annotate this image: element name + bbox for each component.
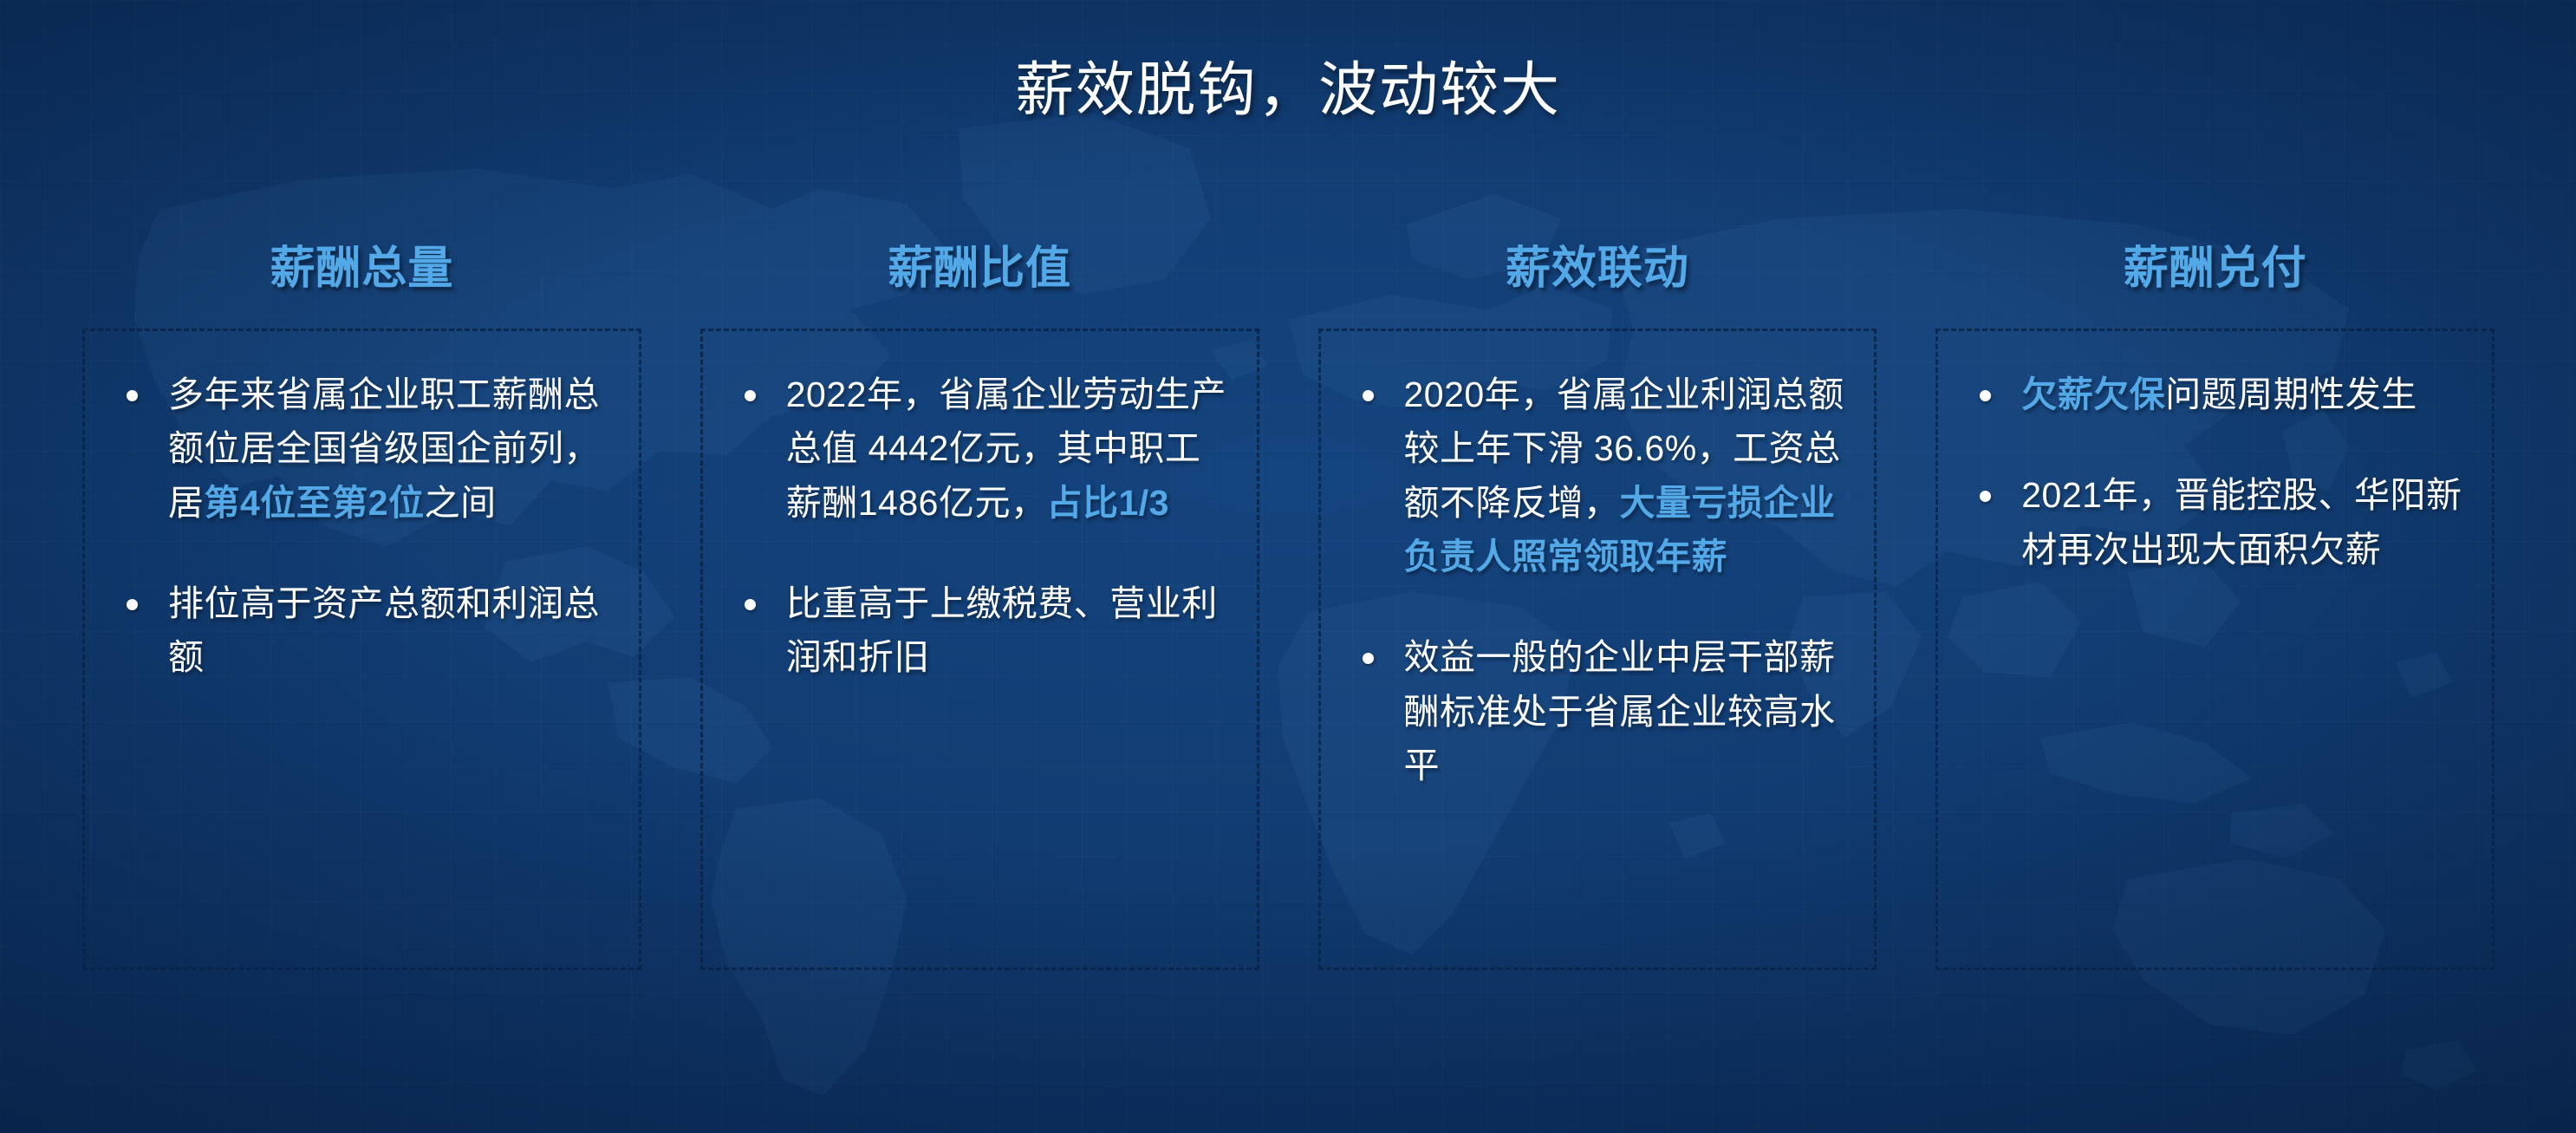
column-salary-total: 薪酬总量 多年来省属企业职工薪酬总额位居全国省级国企前列，居第4位至第2位之间 …: [82, 221, 641, 970]
columns-container: 薪酬总量 多年来省属企业职工薪酬总额位居全国省级国企前列，居第4位至第2位之间 …: [82, 221, 2495, 970]
list-item: 2022年，省属企业劳动生产总值 4442亿元，其中职工薪酬1486亿元，占比1…: [729, 368, 1227, 530]
list-item: 排位高于资产总额和利润总额: [111, 576, 609, 685]
column-card: 多年来省属企业职工薪酬总额位居全国省级国企前列，居第4位至第2位之间 排位高于资…: [82, 329, 641, 970]
bullet-list: 2020年，省属企业利润总额较上年下滑 36.6%，工资总额不降反增，大量亏损企…: [1347, 368, 1845, 792]
bullet-text-segment: 比重高于上缴税费、营业利润和折旧: [786, 583, 1218, 677]
bullet-list: 2022年，省属企业劳动生产总值 4442亿元，其中职工薪酬1486亿元，占比1…: [729, 368, 1227, 685]
list-item: 多年来省属企业职工薪酬总额位居全国省级国企前列，居第4位至第2位之间: [111, 368, 609, 530]
column-heading: 薪效联动: [1318, 221, 1877, 316]
list-item: 2020年，省属企业利润总额较上年下滑 36.6%，工资总额不降反增，大量亏损企…: [1347, 368, 1845, 583]
column-heading: 薪酬总量: [82, 221, 641, 316]
page-title: 薪效脱钩，波动较大: [0, 42, 2576, 127]
column-heading: 薪酬兑付: [1935, 221, 2495, 316]
bullet-list: 欠薪欠保问题周期性发生 2021年，晋能控股、华阳新材再次出现大面积欠薪: [1964, 368, 2462, 576]
slide-root: 薪效脱钩，波动较大 薪酬总量 多年来省属企业职工薪酬总额位居全国省级国企前列，居…: [0, 0, 2576, 1133]
bullet-text-segment: 问题周期性发生: [2165, 374, 2417, 414]
column-card: 2022年，省属企业劳动生产总值 4442亿元，其中职工薪酬1486亿元，占比1…: [700, 329, 1259, 970]
column-pay-performance-link: 薪效联动 2020年，省属企业利润总额较上年下滑 36.6%，工资总额不降反增，…: [1318, 221, 1877, 970]
bullet-text-highlight: 第4位至第2位: [205, 483, 425, 523]
column-salary-ratio: 薪酬比值 2022年，省属企业劳动生产总值 4442亿元，其中职工薪酬1486亿…: [700, 221, 1259, 970]
list-item: 效益一般的企业中层干部薪酬标准处于省属企业较高水平: [1347, 630, 1845, 792]
bullet-list: 多年来省属企业职工薪酬总额位居全国省级国企前列，居第4位至第2位之间 排位高于资…: [111, 368, 609, 685]
bullet-text-highlight: 欠薪欠保: [2021, 374, 2165, 414]
bullet-text-segment: 效益一般的企业中层干部薪酬标准处于省属企业较高水平: [1404, 637, 1836, 785]
list-item: 比重高于上缴税费、营业利润和折旧: [729, 576, 1227, 685]
column-card: 2020年，省属企业利润总额较上年下滑 36.6%，工资总额不降反增，大量亏损企…: [1318, 329, 1877, 970]
bullet-text-segment: 2021年，晋能控股、华阳新材再次出现大面积欠薪: [2021, 475, 2462, 569]
bullet-text-segment: 之间: [425, 483, 497, 523]
list-item: 欠薪欠保问题周期性发生: [1964, 368, 2462, 421]
list-item: 2021年，晋能控股、华阳新材再次出现大面积欠薪: [1964, 468, 2462, 576]
column-heading: 薪酬比值: [700, 221, 1259, 316]
bullet-text-highlight: 占比1/3: [1046, 483, 1169, 523]
column-salary-payment: 薪酬兑付 欠薪欠保问题周期性发生 2021年，晋能控股、华阳新材再次出现大面积欠…: [1935, 221, 2495, 970]
column-card: 欠薪欠保问题周期性发生 2021年，晋能控股、华阳新材再次出现大面积欠薪: [1935, 329, 2495, 970]
bullet-text-segment: 排位高于资产总额和利润总额: [168, 583, 600, 677]
